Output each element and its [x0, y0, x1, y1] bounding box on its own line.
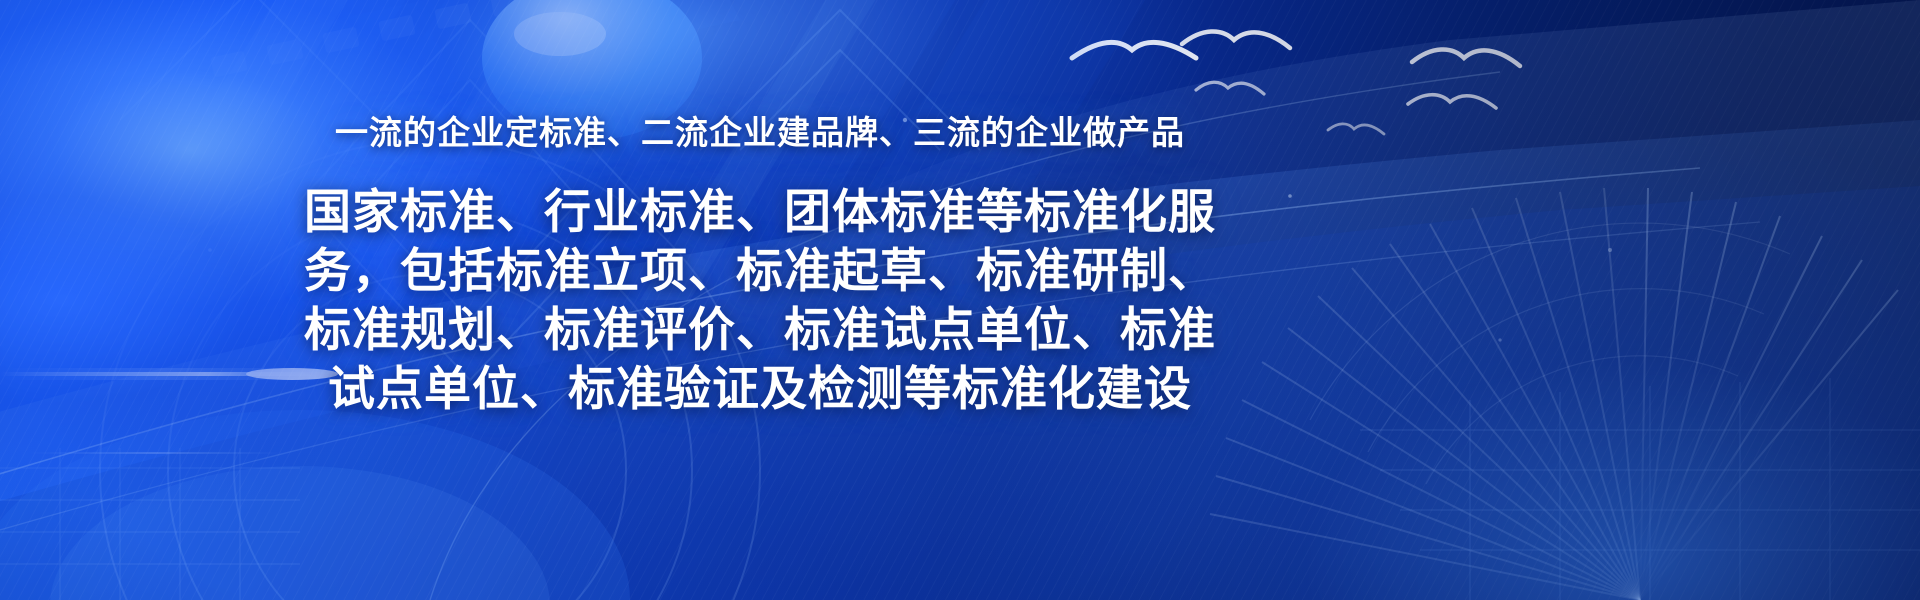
- banner-body-line-3: 标准规划、标准评价、标准试点单位、标准: [230, 301, 1290, 360]
- banner-body: 国家标准、行业标准、团体标准等标准化服 务，包括标准立项、标准起草、标准研制、 …: [230, 183, 1290, 418]
- corporate-banner: 一流的企业定标准、二流企业建品牌、三流的企业做产品 国家标准、行业标准、团体标准…: [0, 0, 1920, 600]
- banner-headline: 一流的企业定标准、二流企业建品牌、三流的企业做产品: [335, 112, 1185, 153]
- banner-body-line-4: 试点单位、标准验证及检测等标准化建设: [230, 360, 1290, 419]
- banner-content: 一流的企业定标准、二流企业建品牌、三流的企业做产品 国家标准、行业标准、团体标准…: [0, 0, 1520, 600]
- banner-body-line-1: 国家标准、行业标准、团体标准等标准化服: [230, 183, 1290, 242]
- banner-body-line-2: 务，包括标准立项、标准起草、标准研制、: [230, 242, 1290, 301]
